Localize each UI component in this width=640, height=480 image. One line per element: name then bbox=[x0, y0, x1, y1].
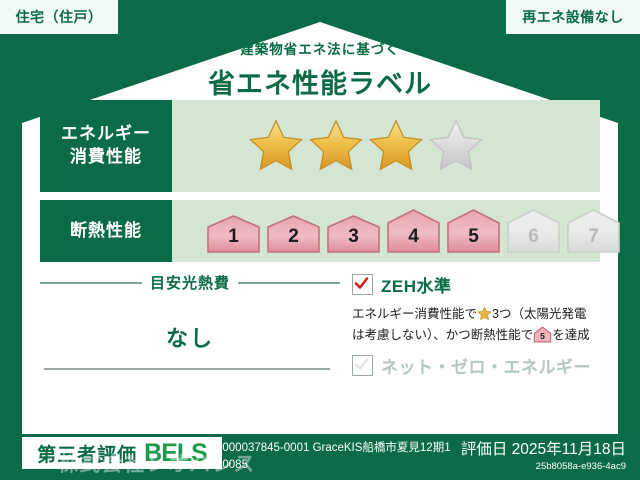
energy-label-line2: 消費性能 bbox=[70, 146, 142, 169]
utility-cost-value: なし bbox=[40, 321, 340, 353]
evaluation-date-block: 評価日 2025年11月18日 25b8058a-e936-4ac9 bbox=[461, 437, 626, 472]
title-main: 省エネ性能ラベル bbox=[0, 62, 640, 101]
check-icon bbox=[354, 276, 369, 291]
star-empty-icon bbox=[428, 118, 484, 174]
zeh-desc-part2: 3つ（太陽光発電 bbox=[492, 307, 586, 321]
label-content-card: エネルギー 消費性能 断熱性能 1234567 目安光熱費 bbox=[40, 100, 600, 418]
zeh-desc-part1: エネルギー消費性能で bbox=[352, 307, 477, 321]
insulation-level-house: 7 bbox=[566, 208, 621, 254]
insulation-level-number: 5 bbox=[446, 226, 501, 248]
insulation-level-house: 6 bbox=[506, 208, 561, 254]
label-footer: 第三者評価 BELS 0000037845-0001 GraceKIS船橋市夏見… bbox=[0, 434, 640, 480]
mini-star-icon bbox=[477, 306, 492, 321]
heading-rule-right bbox=[238, 282, 340, 284]
utility-cost-heading-text: 目安光熱費 bbox=[150, 272, 230, 293]
zeh-title: ZEH水準 bbox=[381, 272, 452, 297]
net-zero-energy-row: ネット・ゼロ・エネルギー bbox=[352, 353, 600, 378]
heading-rule-left bbox=[40, 282, 142, 284]
star-filled-icon bbox=[368, 118, 424, 174]
zeh-description: エネルギー消費性能で3つ（太陽光発電 は考慮しない）、かつ断熱性能で5を達成 bbox=[352, 304, 600, 345]
evaluation-date: 評価日 2025年11月18日 bbox=[461, 437, 626, 459]
label-lower-section: 目安光熱費 なし ZEH水準 エネルギー消費性能で3つ（太陽光発電 bbox=[40, 272, 600, 378]
badge-building-type: 住宅（住戸） bbox=[0, 0, 118, 34]
insulation-level-scale: 1234567 bbox=[172, 208, 621, 254]
net-zero-energy-title: ネット・ゼロ・エネルギー bbox=[381, 353, 591, 378]
watermark-text: 株式会社レオパレス bbox=[56, 448, 257, 478]
insulation-level-house: 2 bbox=[266, 214, 321, 254]
insulation-level-number: 1 bbox=[206, 226, 261, 248]
insulation-level-number: 2 bbox=[266, 226, 321, 248]
label-title: 建築物省エネ法に基づく 省エネ性能ラベル bbox=[0, 38, 640, 101]
insulation-level-house: 3 bbox=[326, 214, 381, 254]
insulation-performance-row: 断熱性能 1234567 bbox=[40, 200, 600, 262]
insulation-level-number: 4 bbox=[386, 226, 441, 248]
insulation-level-house: 1 bbox=[206, 214, 261, 254]
energy-performance-body bbox=[172, 100, 600, 192]
mini-house-badge-icon: 5 bbox=[533, 326, 552, 343]
bels-energy-label: 住宅（住戸） 再エネ設備なし 建築物省エネ法に基づく 省エネ性能ラベル エネルギ… bbox=[0, 0, 640, 480]
insulation-level-number: 7 bbox=[566, 226, 621, 248]
star-filled-icon bbox=[308, 118, 364, 174]
utility-cost-block: 目安光熱費 なし bbox=[40, 272, 340, 378]
insulation-level-number: 6 bbox=[506, 226, 561, 248]
energy-performance-row: エネルギー 消費性能 bbox=[40, 100, 600, 192]
zeh-heading: ZEH水準 bbox=[352, 272, 600, 297]
insulation-performance-label: 断熱性能 bbox=[40, 200, 172, 262]
energy-star-rating bbox=[172, 118, 484, 174]
star-filled-icon bbox=[248, 118, 304, 174]
badge-renewable-energy: 再エネ設備なし bbox=[506, 0, 640, 34]
insulation-level-house: 4 bbox=[386, 208, 441, 254]
utility-cost-heading: 目安光熱費 bbox=[40, 272, 340, 293]
evaluation-date-value: 2025年11月18日 bbox=[512, 441, 626, 458]
insulation-level-number: 3 bbox=[326, 226, 381, 248]
zeh-desc-part4: を達成 bbox=[552, 328, 590, 342]
insulation-performance-body: 1234567 bbox=[172, 200, 621, 262]
utility-cost-bottom-rule bbox=[44, 368, 330, 370]
title-subtitle: 建築物省エネ法に基づく bbox=[0, 38, 640, 58]
svg-text:5: 5 bbox=[540, 331, 545, 341]
zeh-block: ZEH水準 エネルギー消費性能で3つ（太陽光発電 は考慮しない）、かつ断熱性能で… bbox=[340, 272, 600, 378]
energy-performance-label: エネルギー 消費性能 bbox=[40, 100, 172, 192]
evaluation-date-label: 評価日 bbox=[461, 441, 508, 458]
energy-label-line1: エネルギー bbox=[61, 123, 151, 146]
evaluation-hash: 25b8058a-e936-4ac9 bbox=[461, 461, 626, 472]
zeh-desc-part3: は考慮しない）、かつ断熱性能で bbox=[352, 328, 533, 342]
net-zero-energy-checkbox[interactable] bbox=[352, 355, 373, 376]
insulation-label-text: 断熱性能 bbox=[70, 220, 142, 243]
insulation-level-house: 5 bbox=[446, 208, 501, 254]
zeh-checkbox[interactable] bbox=[352, 274, 373, 295]
check-icon-disabled bbox=[354, 357, 369, 372]
